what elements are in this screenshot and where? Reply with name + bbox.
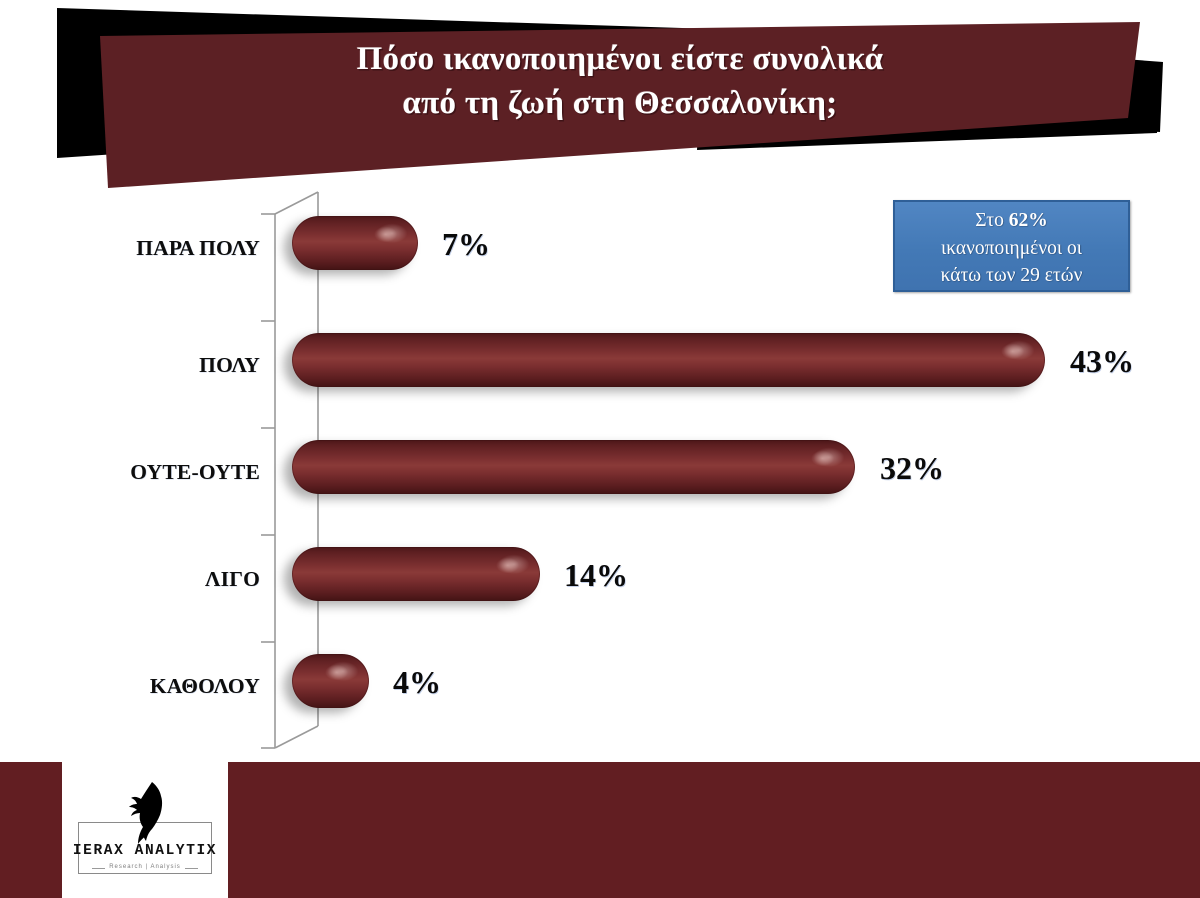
category-label-para-poly: ΠΑΡΑ ΠΟΛΥ	[85, 236, 260, 261]
callout-prefix: Στο	[975, 210, 1008, 231]
bar-para-poly[interactable]	[292, 216, 418, 270]
category-label-poly: ΠΟΛΥ	[85, 353, 260, 378]
value-label-poly: 43%	[1070, 343, 1134, 380]
callout-line-1: Στο 62%	[895, 207, 1128, 235]
callout-highlight: 62%	[1009, 210, 1048, 231]
footer-band-left	[0, 762, 62, 898]
category-label-row: ΟΥΤΕ-ΟΥΤΕ	[80, 460, 260, 490]
title-line-2: από τη ζωή στη Θεσσαλονίκη;	[110, 82, 1130, 126]
category-label-row: ΠΟΛΥ	[80, 353, 260, 383]
bar-poly[interactable]	[292, 333, 1045, 387]
slide-canvas: Πόσο ικανοποιημένοι είστε συνολικά από τ…	[0, 0, 1200, 898]
value-label-para-poly: 7%	[442, 226, 490, 263]
callout-line-2: ικανοποιημένοι οι	[895, 235, 1128, 263]
bar-row-katholou: 4%	[292, 654, 1192, 718]
title-line-1: Πόσο ικανοποιημένοι είστε συνολικά	[110, 38, 1130, 82]
logo-tagline: Research | Analysis	[70, 864, 220, 870]
bar-row-poly: 43%	[292, 333, 1192, 397]
category-label-row: ΠΑΡΑ ΠΟΛΥ	[80, 236, 260, 266]
bar-katholou[interactable]	[292, 654, 369, 708]
category-label-katholou: ΚΑΘΟΛΟΥ	[85, 674, 260, 699]
value-label-ligo: 14%	[564, 557, 628, 594]
title-banner: Πόσο ικανοποιημένοι είστε συνολικά από τ…	[0, 0, 1200, 200]
logo-wordmark: IERAX ANALYTIX	[70, 843, 220, 859]
callout-line-3: κάτω των 29 ετών	[895, 262, 1128, 290]
value-label-oute-oute: 32%	[880, 450, 944, 487]
category-label-row: ΚΑΘΟΛΟΥ	[80, 674, 260, 704]
logo-panel: IERAX ANALYTIX Research | Analysis	[62, 762, 228, 898]
page-title: Πόσο ικανοποιημένοι είστε συνολικά από τ…	[110, 38, 1130, 125]
value-label-katholou: 4%	[393, 664, 441, 701]
bar-ligo[interactable]	[292, 547, 540, 601]
category-label-oute-oute: ΟΥΤΕ-ΟΥΤΕ	[85, 460, 260, 485]
category-label-ligo: ΛΙΓΟ	[85, 567, 260, 592]
footer-band-right	[228, 762, 1200, 898]
bar-row-ligo: 14%	[292, 547, 1192, 611]
bar-row-oute-oute: 32%	[292, 440, 1192, 504]
bar-oute-oute[interactable]	[292, 440, 855, 494]
callout-box: Στο 62% ικανοποιημένοι οι κάτω των 29 ετ…	[893, 200, 1130, 292]
category-label-row: ΛΙΓΟ	[80, 567, 260, 597]
